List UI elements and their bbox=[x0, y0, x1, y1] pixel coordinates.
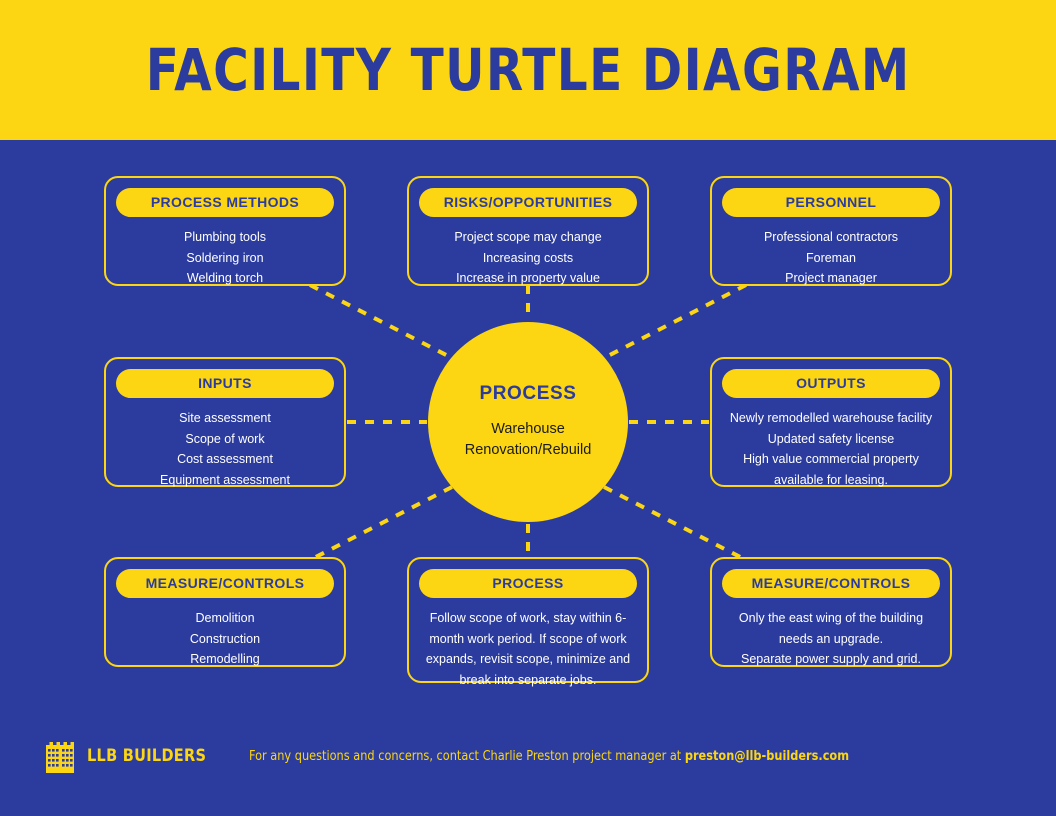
center-process-circle[interactable]: PROCESS Warehouse Renovation/Rebuild bbox=[428, 322, 628, 522]
box-inputs[interactable]: INPUTS Site assessment Scope of work Cos… bbox=[104, 357, 346, 487]
box-heading: PROCESS bbox=[419, 569, 637, 598]
box-risks-opportunities[interactable]: RISKS/OPPORTUNITIES Project scope may ch… bbox=[407, 176, 649, 286]
box-line: Follow scope of work, stay within 6-mont… bbox=[419, 608, 637, 690]
box-process-bottom[interactable]: PROCESS Follow scope of work, stay withi… bbox=[407, 557, 649, 683]
box-body: Demolition Construction Remodelling bbox=[106, 608, 344, 670]
box-heading: OUTPUTS bbox=[722, 369, 940, 398]
page-title: FACILITY TURTLE DIAGRAM bbox=[146, 36, 911, 104]
box-line: Demolition bbox=[116, 608, 334, 629]
box-line: Increasing costs bbox=[419, 248, 637, 269]
box-personnel[interactable]: PERSONNEL Professional contractors Forem… bbox=[710, 176, 952, 286]
connector-bottom-left bbox=[310, 487, 452, 560]
box-body: Newly remodelled warehouse facility Upda… bbox=[712, 408, 950, 490]
box-heading: RISKS/OPPORTUNITIES bbox=[419, 188, 637, 217]
box-line: Soldering iron bbox=[116, 248, 334, 269]
contact-line: For any questions and concerns, contact … bbox=[249, 749, 849, 764]
box-line: Only the east wing of the building needs… bbox=[722, 608, 940, 649]
box-line: Professional contractors bbox=[722, 227, 940, 248]
box-heading: PERSONNEL bbox=[722, 188, 940, 217]
box-measure-controls-left[interactable]: MEASURE/CONTROLS Demolition Construction… bbox=[104, 557, 346, 667]
center-title: PROCESS bbox=[479, 383, 576, 405]
connector-top-right bbox=[604, 285, 746, 358]
contact-text: For any questions and concerns, contact … bbox=[249, 749, 685, 764]
box-outputs[interactable]: OUTPUTS Newly remodelled warehouse facil… bbox=[710, 357, 952, 487]
box-line: Construction bbox=[116, 629, 334, 650]
box-body: Site assessment Scope of work Cost asses… bbox=[106, 408, 344, 490]
box-line: Foreman bbox=[722, 248, 940, 269]
box-line: Cost assessment bbox=[116, 449, 334, 470]
box-body: Plumbing tools Soldering iron Welding to… bbox=[106, 227, 344, 289]
box-line: Site assessment bbox=[116, 408, 334, 429]
box-line: Separate power supply and grid. bbox=[722, 649, 940, 670]
box-line: Project manager bbox=[722, 268, 940, 289]
box-heading: INPUTS bbox=[116, 369, 334, 398]
box-process-methods[interactable]: PROCESS METHODS Plumbing tools Soldering… bbox=[104, 176, 346, 286]
box-line: Updated safety license bbox=[722, 429, 940, 450]
box-heading: PROCESS METHODS bbox=[116, 188, 334, 217]
connector-bottom-right bbox=[604, 487, 746, 560]
infographic-canvas: FACILITY TURTLE DIAGRAM PROCESS METHODS … bbox=[0, 0, 1056, 816]
center-subtitle: Warehouse Renovation/Rebuild bbox=[465, 419, 592, 461]
brand-name: LLB BUILDERS bbox=[87, 746, 206, 766]
header-band: FACILITY TURTLE DIAGRAM bbox=[0, 0, 1056, 140]
building-icon bbox=[46, 739, 74, 773]
footer: LLB BUILDERS For any questions and conce… bbox=[0, 716, 1056, 796]
center-line: Warehouse bbox=[465, 419, 592, 440]
contact-email[interactable]: preston@llb-builders.com bbox=[684, 749, 848, 764]
box-line: Scope of work bbox=[116, 429, 334, 450]
box-line: Plumbing tools bbox=[116, 227, 334, 248]
box-line: Newly remodelled warehouse facility bbox=[722, 408, 940, 429]
box-line: Welding torch bbox=[116, 268, 334, 289]
box-heading: MEASURE/CONTROLS bbox=[722, 569, 940, 598]
box-line: Remodelling bbox=[116, 649, 334, 670]
box-line: Increase in property value bbox=[419, 268, 637, 289]
box-measure-controls-right[interactable]: MEASURE/CONTROLS Only the east wing of t… bbox=[710, 557, 952, 667]
box-body: Project scope may change Increasing cost… bbox=[409, 227, 647, 289]
box-body: Follow scope of work, stay within 6-mont… bbox=[409, 608, 647, 690]
connector-top-left bbox=[310, 285, 452, 358]
box-body: Professional contractors Foreman Project… bbox=[712, 227, 950, 289]
box-line: Equipment assessment bbox=[116, 470, 334, 491]
box-body: Only the east wing of the building needs… bbox=[712, 608, 950, 670]
box-line: High value commercial property available… bbox=[722, 449, 940, 490]
box-line: Project scope may change bbox=[419, 227, 637, 248]
box-heading: MEASURE/CONTROLS bbox=[116, 569, 334, 598]
center-line: Renovation/Rebuild bbox=[465, 440, 592, 461]
